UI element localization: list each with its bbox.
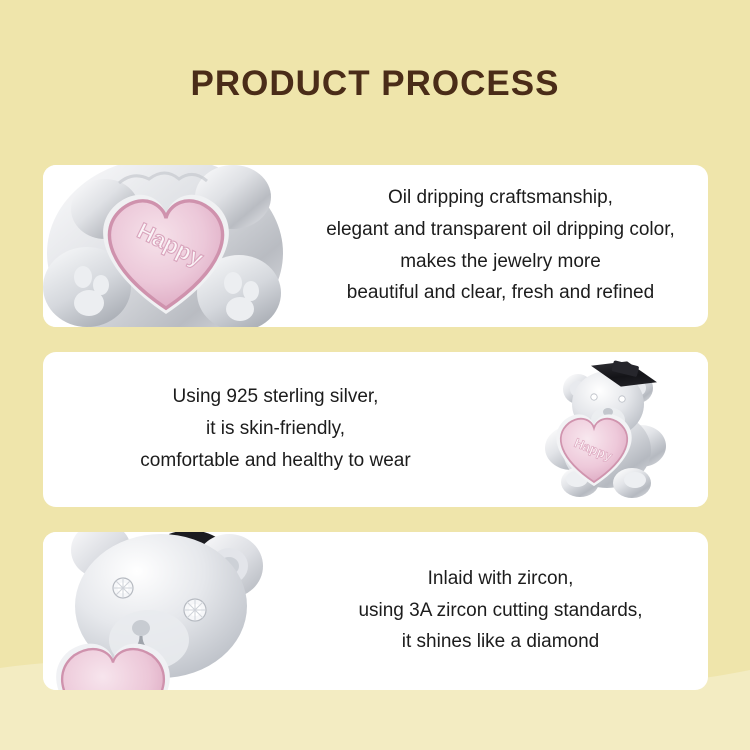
process-panel-sterling-silver: Happy Using 925 sterling silver, it is s… [43, 352, 708, 507]
panel-3-text-block: Inlaid with zircon, using 3A zircon cutt… [293, 532, 708, 690]
panel-3-line-3: it shines like a diamond [402, 632, 600, 653]
panel-2-line-2: it is skin-friendly, [206, 419, 345, 440]
charm-full-bear-photo: Happy [508, 352, 708, 507]
process-panel-oil-dripping: Happy Oil dripping craftsmanship, elegan… [43, 165, 708, 327]
panel-1-line-1: Oil dripping craftsmanship, [388, 188, 613, 209]
panel-1-text-block: Oil dripping craftsmanship, elegant and … [293, 165, 708, 327]
panel-3-line-2: using 3A zircon cutting standards, [358, 601, 642, 622]
charm-heart-closeup-photo: Happy [43, 165, 293, 327]
zircon-stone-right [184, 599, 206, 621]
page-title: PRODUCT PROCESS [0, 64, 750, 104]
panel-2-line-1: Using 925 sterling silver, [173, 387, 379, 408]
process-panel-zircon: Inlaid with zircon, using 3A zircon cutt… [43, 532, 708, 690]
zircon-stone-left [113, 578, 133, 598]
panel-1-line-2: elegant and transparent oil dripping col… [326, 220, 675, 241]
panel-1-line-3: makes the jewelry more [400, 252, 601, 273]
panel-3-line-1: Inlaid with zircon, [428, 569, 574, 590]
charm-zircon-eyes-closeup-photo [43, 532, 293, 690]
panel-1-line-4: beautiful and clear, fresh and refined [347, 283, 654, 304]
panel-2-line-3: comfortable and healthy to wear [140, 451, 410, 472]
panel-2-text-block: Using 925 sterling silver, it is skin-fr… [43, 352, 508, 507]
